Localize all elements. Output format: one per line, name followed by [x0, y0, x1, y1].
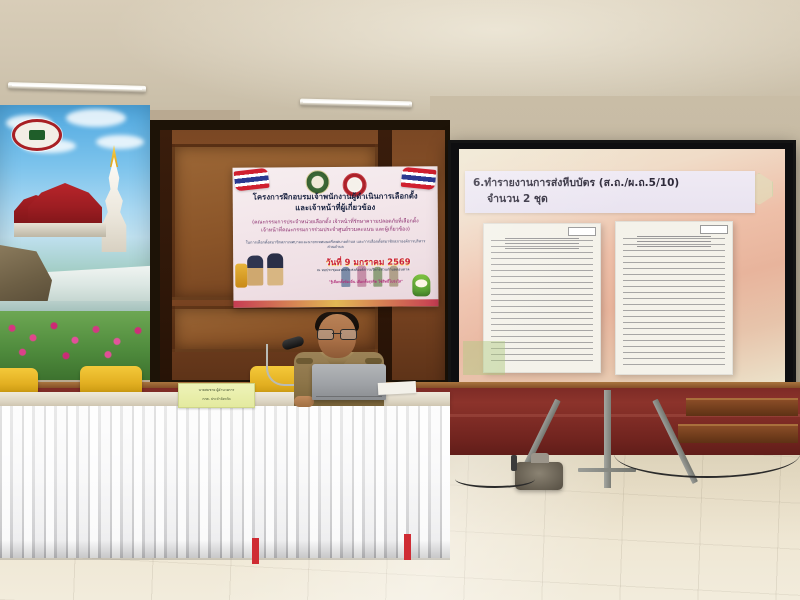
- thai-flag-left: [234, 168, 270, 192]
- projected-slide: 6.ทำรายงานการส่งหีบบัตร (ส.ถ./ผ.ถ.5/10) …: [459, 149, 785, 385]
- floor-tape-mark-1: [252, 538, 259, 564]
- name-placard-line2: กกต. ประจำจังหวัด: [179, 393, 254, 402]
- tripod-center-pole: [604, 390, 611, 488]
- tripod-crossbar: [578, 468, 636, 472]
- banner-title: โครงการฝึกอบรมเจ้าพนักงานผู้ดำเนินการเลื…: [239, 190, 432, 213]
- banner-subtitle-line1: (คณะกรรมการประจำหน่วยเลือกตั้ง เจ้าหน้าท…: [252, 218, 419, 225]
- banner-slogan: "รู้เลือกตั้งท้องถิ่น เลือกตั้งสุจริต ใช…: [303, 278, 428, 285]
- slide-document-right: [615, 221, 733, 375]
- slide-watermark-icon: [745, 173, 773, 205]
- banner-title-line2: และเจ้าหน้าที่ผู้เกี่ยวข้อง: [295, 203, 375, 213]
- provincial-seal-logo: [12, 119, 62, 151]
- event-banner: โครงการฝึกอบรมเจ้าพนักงานผู้ดำเนินการเลื…: [233, 166, 439, 307]
- conference-hall-photo: โครงการฝึกอบรมเจ้าพนักงานผู้ดำเนินการเลื…: [0, 0, 800, 600]
- epaulet-left: [296, 358, 313, 364]
- laptop[interactable]: [312, 364, 386, 400]
- banner-subtitle-line2: เจ้าหน้าที่คณะกรรมการร่วมประจำศูนย์รวมคะ…: [261, 226, 410, 233]
- chair-left-2[interactable]: [80, 366, 142, 394]
- banner-title-line1: โครงการฝึกอบรมเจ้าพนักงานผู้ดำเนินการเลื…: [253, 191, 418, 201]
- slide-heading: 6.ทำรายงานการส่งหีบบัตร (ส.ถ./ผ.ถ.5/10) …: [473, 175, 751, 208]
- power-cable-2: [614, 430, 800, 478]
- scenic-backdrop-banner: [0, 105, 150, 380]
- speaker-hand: [294, 396, 314, 407]
- slide-heading-band: 6.ทำรายงานการส่งหีบบัตร (ส.ถ./ผ.ถ.5/10) …: [465, 171, 755, 213]
- slide-document-left: [483, 223, 601, 373]
- microphone-arm: [266, 344, 294, 386]
- eyeglasses-icon: [317, 329, 357, 338]
- banner-ballot-box: [235, 264, 247, 288]
- document-stack: [378, 381, 417, 395]
- banner-venue: ณ หอประชุมเอนกประสงค์องค์การบริหารส่วนตำ…: [293, 267, 433, 273]
- chair-left-1[interactable]: [0, 368, 38, 394]
- floor-tape-mark-2: [404, 534, 411, 560]
- document-tag-right: [700, 225, 728, 234]
- slide-heading-line1: 6.ทำรายงานการส่งหีบบัตร (ส.ถ./ผ.ถ.5/10): [473, 177, 679, 189]
- thai-flag-right: [401, 167, 437, 190]
- red-temple-roof: [28, 183, 102, 227]
- document-tag-left: [568, 227, 596, 236]
- name-placard-line1: นายสมชาย ผู้อำนวยการ: [179, 384, 254, 393]
- name-placard: นายสมชาย ผู้อำนวยการ กกต. ประจำจังหวัด: [178, 383, 255, 408]
- banner-character-man: [267, 253, 283, 285]
- banner-organizer-note: ในการเลือกตั้งสมาชิกสภาเทศบาลและนายกเทศม…: [243, 238, 428, 250]
- banner-character-woman: [247, 256, 263, 286]
- table-shadow: [0, 540, 450, 560]
- projector-screen: 6.ทำรายงานการส่งหีบบัตร (ส.ถ./ผ.ถ.5/10) …: [448, 140, 796, 394]
- power-cable-1: [455, 470, 535, 488]
- table-skirt: [0, 406, 450, 558]
- banner-subtitle: (คณะกรรมการประจำหน่วยเลือกตั้ง เจ้าหน้าท…: [243, 218, 428, 234]
- slide-heading-line2: จำนวน 2 ชุด: [473, 191, 751, 207]
